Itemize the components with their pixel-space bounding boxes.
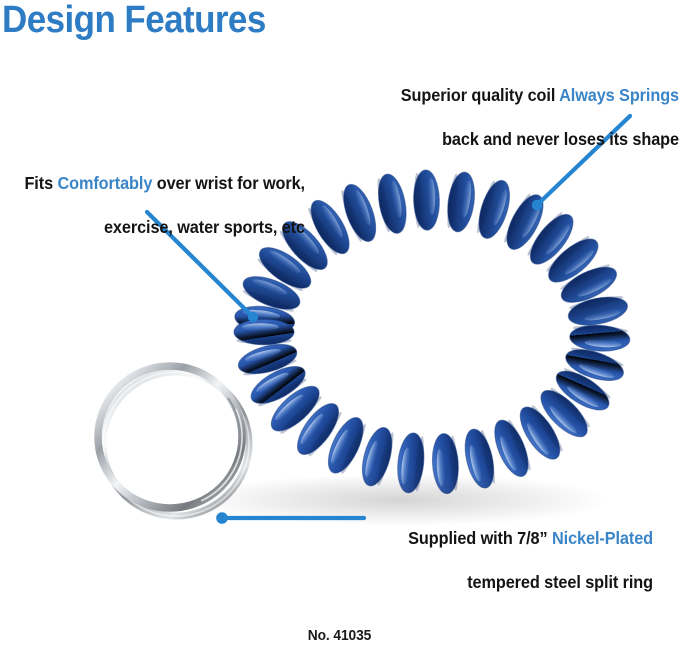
callout-fit-line1-suffix: over wrist for work, bbox=[152, 173, 305, 193]
callout-ring-accent: Nickel-Plated bbox=[552, 528, 653, 548]
callout-fit-line2: exercise, water sports, etc bbox=[104, 217, 305, 237]
callout-coil-line2: back and never loses its shape bbox=[442, 129, 679, 149]
callout-fits-comfortably: Fits Comfortably over wrist for work, ex… bbox=[21, 150, 305, 238]
coil-turn bbox=[234, 319, 294, 345]
callout-always-springs: Superior quality coil Always Springs bac… bbox=[400, 62, 679, 150]
coil-turn bbox=[374, 172, 410, 236]
coil-turn bbox=[444, 171, 478, 234]
callout-coil-line1-prefix: Superior quality coil bbox=[401, 85, 559, 105]
product-number: No. 41035 bbox=[17, 628, 662, 644]
coil-turn bbox=[413, 170, 440, 231]
callout-coil-accent: Always Springs bbox=[559, 85, 679, 105]
callout-fit-line1-prefix: Fits bbox=[24, 173, 57, 193]
callout-ring-line2: tempered steel split ring bbox=[467, 572, 653, 592]
callout-fit-accent: Comfortably bbox=[57, 173, 152, 193]
callout-ring-line1-prefix: Supplied with 7/8” bbox=[408, 528, 552, 548]
callout-nickel-plated-ring: Supplied with 7/8” Nickel-Plated tempere… bbox=[374, 505, 653, 593]
product-infographic: Design Features bbox=[0, 0, 679, 660]
